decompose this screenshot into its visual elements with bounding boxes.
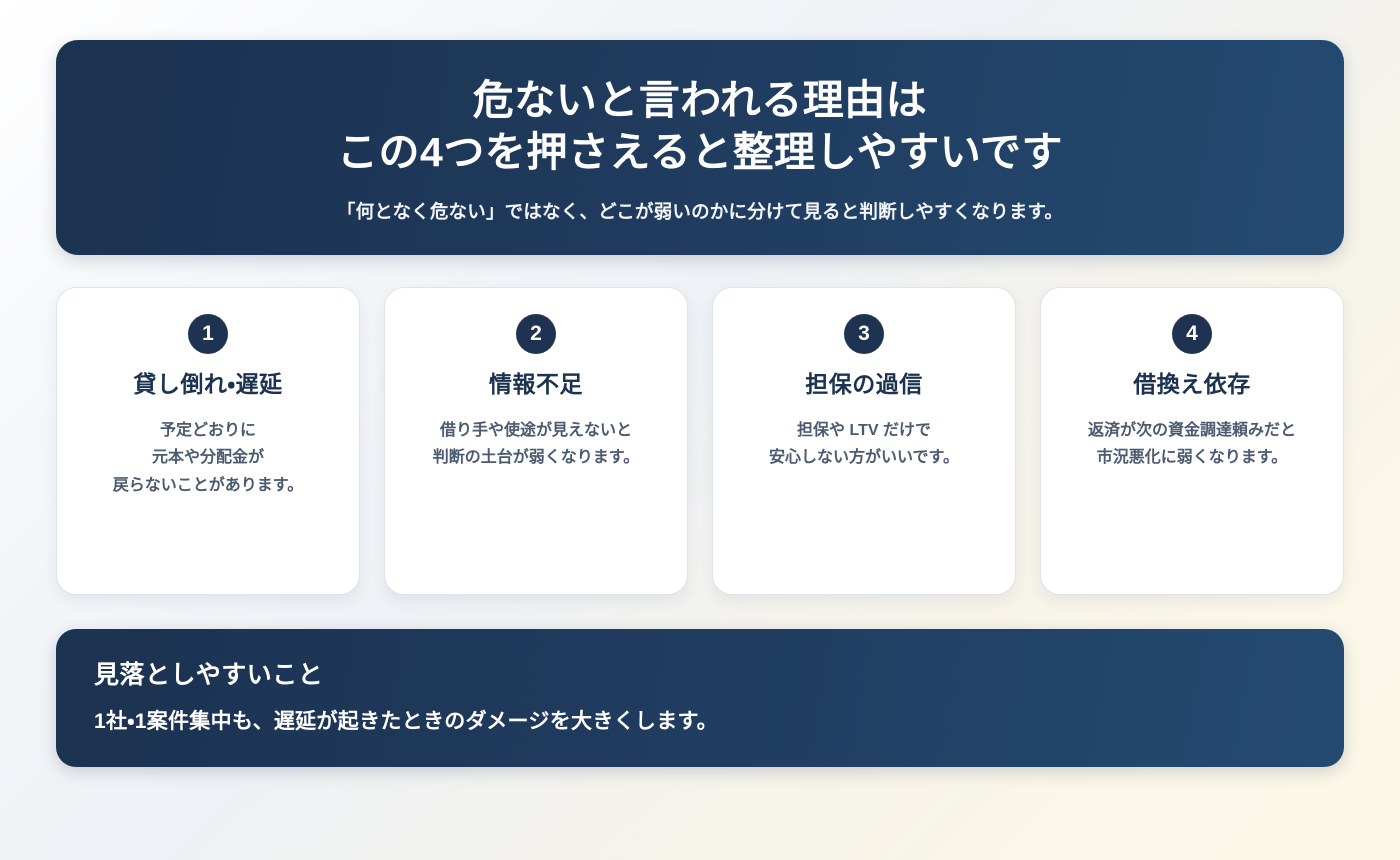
- page-title: 危ないと言われる理由は この4つを押さえると整理しやすいです: [96, 74, 1304, 179]
- footer-band: 見落としやすいこと 1社・1案件集中も、遅延が起きたときのダメージを大きくします…: [56, 629, 1344, 767]
- page-title-line-1: 危ないと言われる理由は: [96, 74, 1304, 126]
- description-line: 借り手や使途が見えないと: [403, 417, 669, 445]
- description-line: 安心しない方がいいです。: [731, 444, 997, 472]
- description-line: 戻らないことがあります。: [75, 472, 341, 500]
- reason-card-title-2: 情報不足: [403, 370, 669, 399]
- infographic-page: 危ないと言われる理由は この4つを押さえると整理しやすいです 「何となく危ない」…: [0, 0, 1400, 860]
- page-title-line-2: この4つを押さえると整理しやすいです: [96, 126, 1304, 178]
- description-line: 予定どおりに: [75, 417, 341, 445]
- description-line: 判断の土台が弱くなります。: [403, 444, 669, 472]
- footer-text: 1社・1案件集中も、遅延が起きたときのダメージを大きくします。: [94, 707, 1306, 737]
- reason-card-title-4: 借換え依存: [1059, 370, 1325, 399]
- number-badge-4: 4: [1172, 314, 1212, 354]
- description-line: 市況悪化に弱くなります。: [1059, 444, 1325, 472]
- reason-card-title-3: 担保の過信: [731, 370, 997, 399]
- description-line: 元本や分配金が: [75, 444, 341, 472]
- reason-card-title-1: 貸し倒れ・遅延: [75, 370, 341, 399]
- description-line: 担保や LTV だけで: [731, 417, 997, 445]
- description-line: 返済が次の資金調達頼みだと: [1059, 417, 1325, 445]
- reason-card-4: 4 借換え依存 返済が次の資金調達頼みだと 市況悪化に弱くなります。: [1040, 287, 1344, 595]
- reason-card-grid: 1 貸し倒れ・遅延 予定どおりに 元本や分配金が 戻らないことがあります。 2 …: [56, 287, 1344, 595]
- page-subtitle: 「何となく危ない」ではなく、どこが弱いのかに分けて見ると判断しやすくなります。: [96, 199, 1304, 225]
- reason-card-description-1: 予定どおりに 元本や分配金が 戻らないことがあります。: [75, 417, 341, 500]
- reason-card-3: 3 担保の過信 担保や LTV だけで 安心しない方がいいです。: [712, 287, 1016, 595]
- footer-title: 見落としやすいこと: [94, 655, 1306, 691]
- number-badge-3: 3: [844, 314, 884, 354]
- number-badge-1: 1: [188, 314, 228, 354]
- reason-card-1: 1 貸し倒れ・遅延 予定どおりに 元本や分配金が 戻らないことがあります。: [56, 287, 360, 595]
- reason-card-2: 2 情報不足 借り手や使途が見えないと 判断の土台が弱くなります。: [384, 287, 688, 595]
- reason-card-description-2: 借り手や使途が見えないと 判断の土台が弱くなります。: [403, 417, 669, 472]
- reason-card-description-3: 担保や LTV だけで 安心しない方がいいです。: [731, 417, 997, 472]
- number-badge-2: 2: [516, 314, 556, 354]
- header-band: 危ないと言われる理由は この4つを押さえると整理しやすいです 「何となく危ない」…: [56, 40, 1344, 255]
- reason-card-description-4: 返済が次の資金調達頼みだと 市況悪化に弱くなります。: [1059, 417, 1325, 472]
